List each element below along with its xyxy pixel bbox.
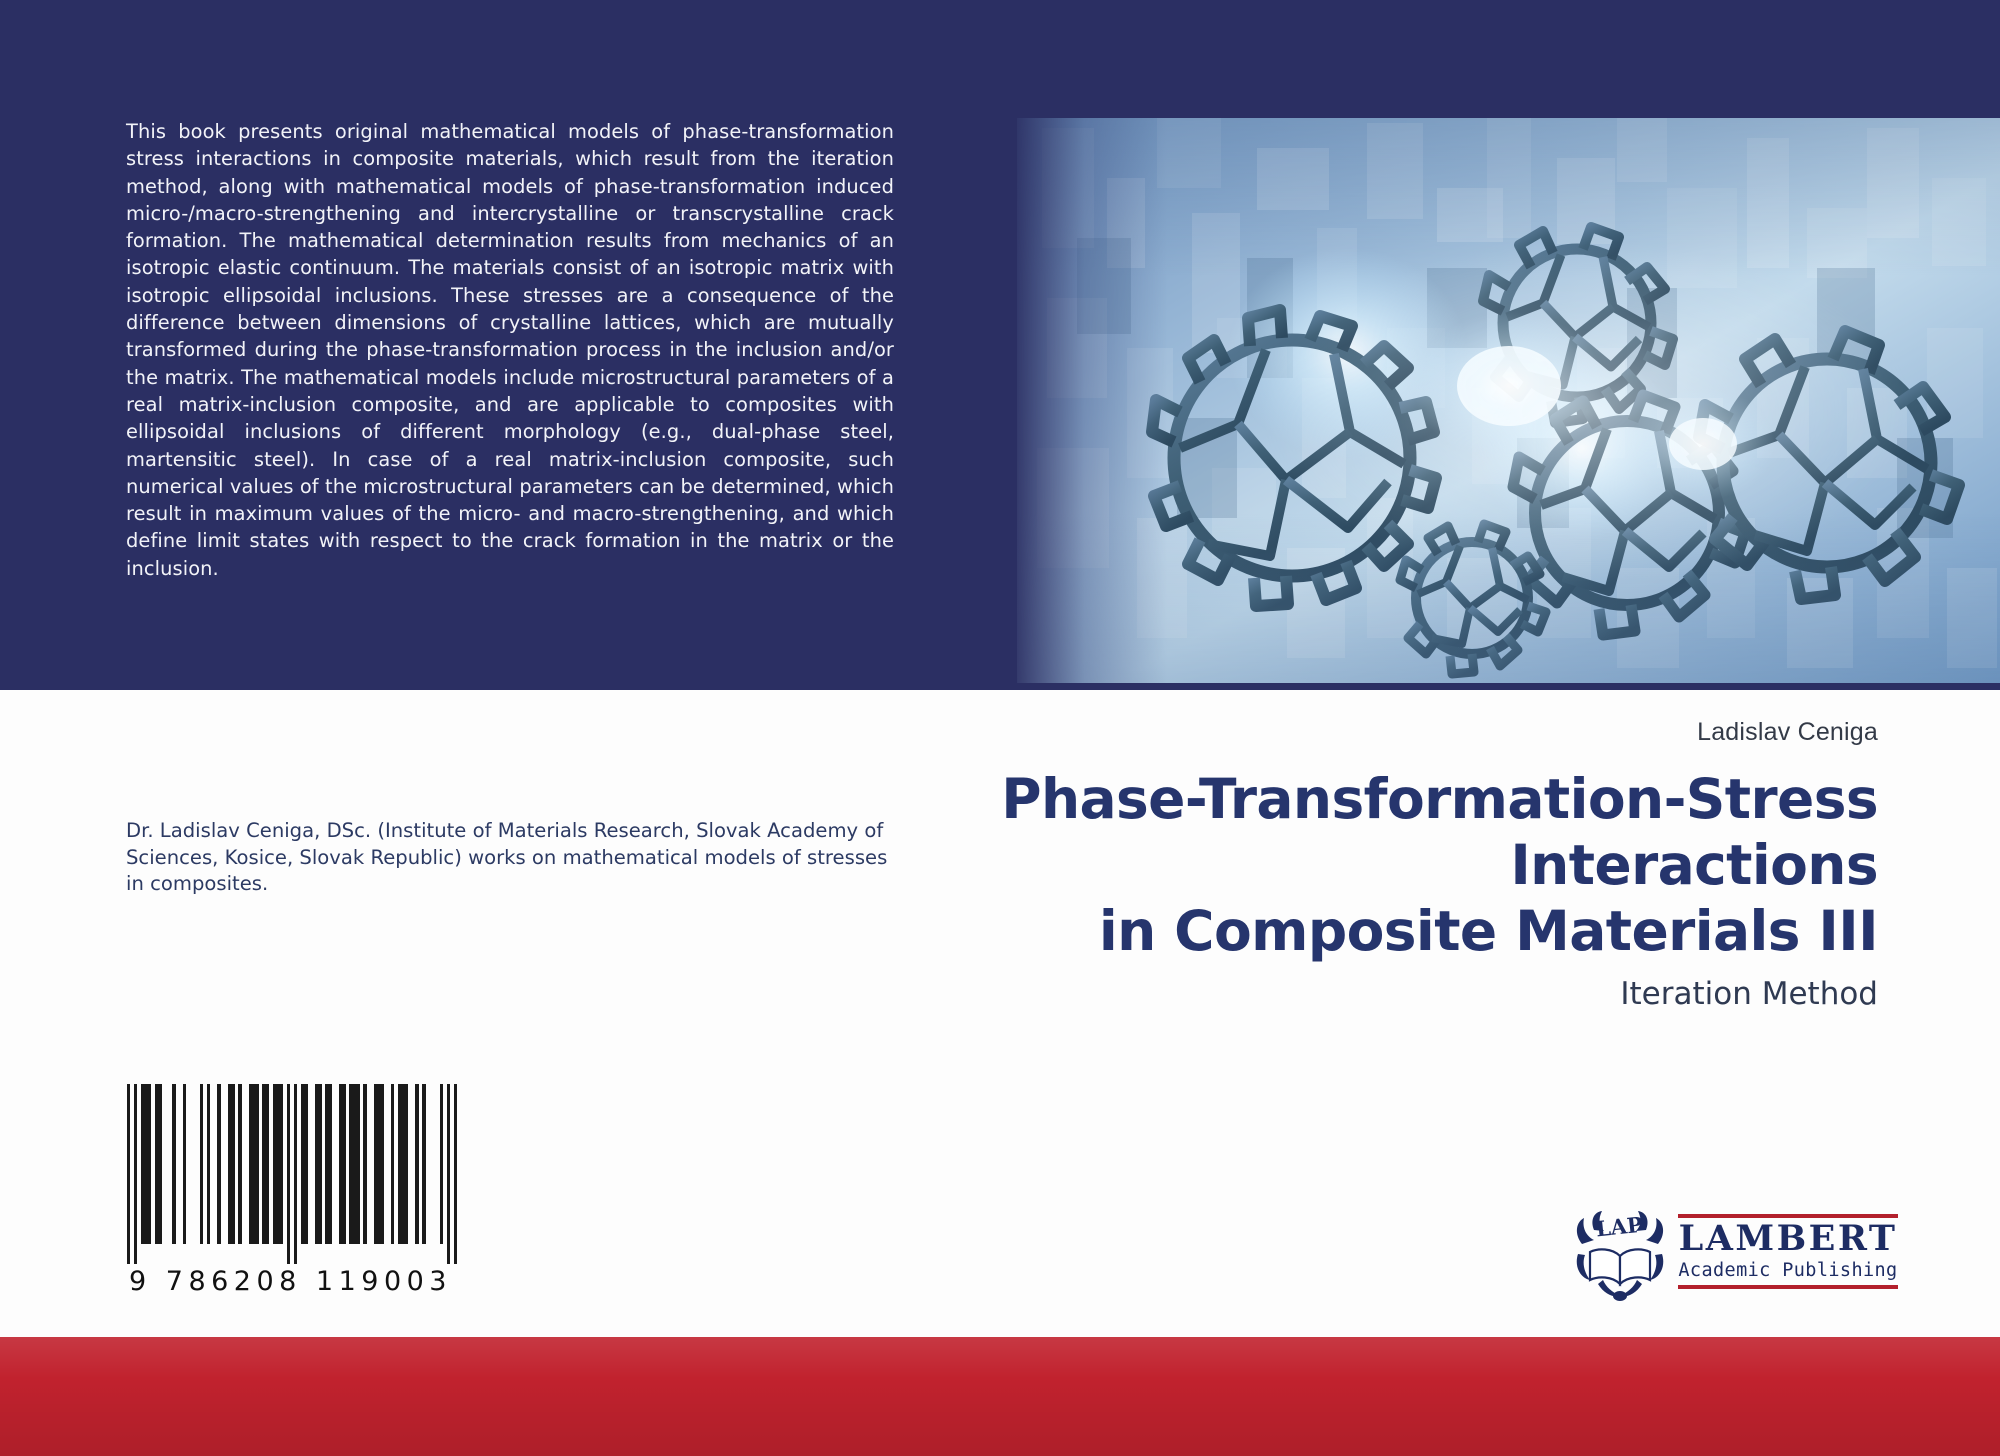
front-cover-author: Ladislav Ceniga — [1697, 718, 1878, 747]
title-line-3: in Composite Materials III — [638, 898, 1878, 964]
isbn-digits: 9 786208 119003 — [127, 1266, 457, 1297]
lap-wreath-book-icon: LAP — [1568, 1210, 1672, 1302]
red-band-shine — [0, 1337, 2000, 1456]
lambert-wordmark: LAMBERT Academic Publishing — [1678, 1214, 1898, 1289]
publisher-tagline: Academic Publishing — [1678, 1259, 1898, 1285]
cover-artwork-image — [1017, 118, 2000, 683]
publisher-name: LAMBERT — [1678, 1218, 1898, 1259]
author-bio: Dr. Ladislav Ceniga, DSc. (Institute of … — [126, 818, 898, 898]
front-cover-subtitle: Iteration Method — [1620, 976, 1878, 1012]
publisher-logo: LAP LAMBERT Academic Publishing — [1568, 1208, 1898, 1304]
bottom-red-band — [0, 1337, 2000, 1456]
book-cover: This book presents original mathematical… — [0, 0, 2000, 1456]
back-cover-blurb: This book presents original mathematical… — [126, 118, 894, 582]
isbn-barcode: 9 786208 119003 — [127, 1084, 457, 1297]
artwork-left-fade — [1017, 118, 1167, 683]
lap-monogram: LAP — [1595, 1212, 1644, 1242]
barcode-bars — [127, 1084, 457, 1264]
logo-rule-bottom — [1678, 1285, 1898, 1289]
